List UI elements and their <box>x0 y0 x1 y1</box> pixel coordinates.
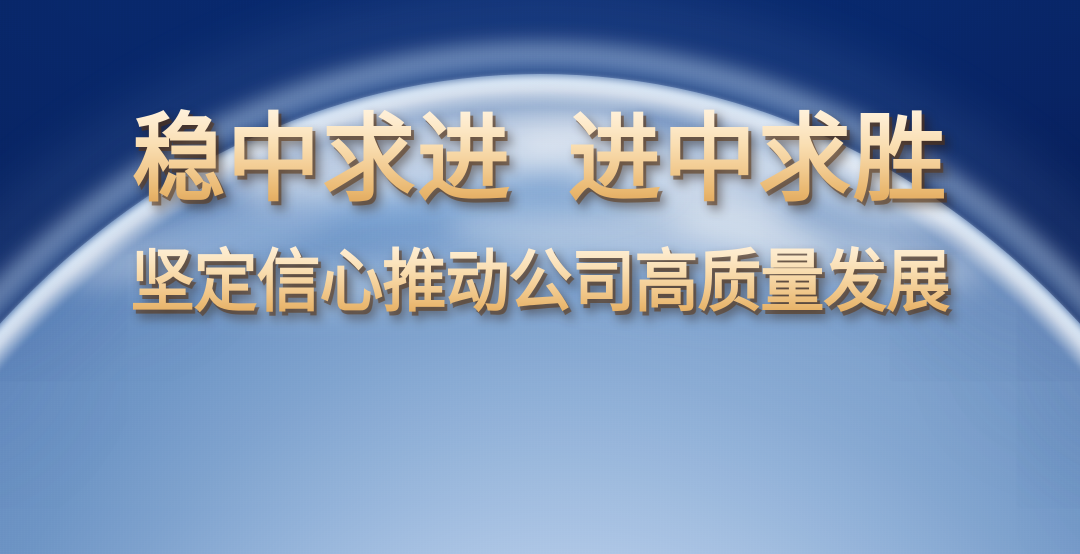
headline-block: 稳中求进 进中求胜 坚定信心推动公司高质量发展 <box>0 104 1080 326</box>
banner-root: 稳中求进 进中求胜 坚定信心推动公司高质量发展 <box>0 0 1080 554</box>
subtitle: 坚定信心推动公司高质量发展 <box>32 238 1047 326</box>
main-title: 稳中求进 进中求胜 <box>16 104 1064 216</box>
